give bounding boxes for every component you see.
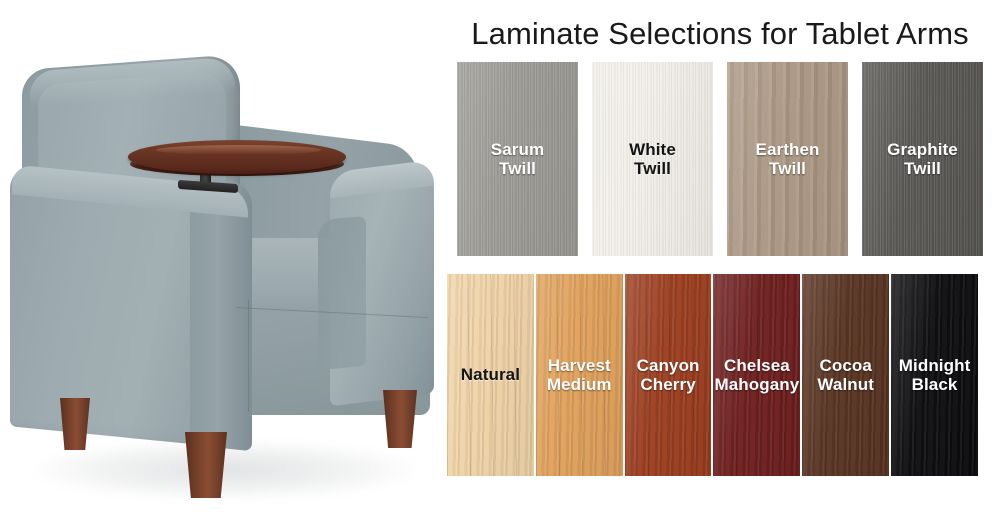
page-title: Laminate Selections for Tablet Arms	[450, 16, 990, 52]
laminate-swatch-label: Midnight Black	[899, 356, 971, 394]
chair-arm-right-inner	[318, 216, 366, 370]
laminate-swatch-label: Natural	[461, 365, 520, 384]
laminate-swatch[interactable]: Earthen Twill	[727, 62, 848, 256]
laminate-swatch[interactable]: White Twill	[592, 62, 713, 256]
laminate-swatch-label: Chelsea Mahogany	[714, 356, 799, 394]
product-photo-chair-with-tablet-arm	[0, 0, 445, 528]
chair-seam-seat-vertical	[248, 300, 249, 412]
chair-arm-left-front-face	[190, 177, 252, 452]
laminate-swatch-label: Canyon Cherry	[637, 356, 700, 394]
laminate-swatch-label: Harvest Medium	[547, 356, 612, 394]
laminate-swatch-label: White Twill	[629, 140, 676, 178]
laminate-selection-board: Laminate Selections for Tablet Arms Saru…	[0, 0, 1000, 528]
laminate-swatch[interactable]: Natural	[447, 274, 534, 476]
chair-leg-back-right	[383, 390, 417, 448]
laminate-swatch-label: Cocoa Walnut	[817, 356, 874, 394]
laminate-swatch[interactable]: Chelsea Mahogany	[713, 274, 800, 476]
chair-leg-front-left	[60, 398, 90, 450]
laminate-row-woodgrain: NaturalHarvest MediumCanyon CherryChelse…	[447, 274, 978, 476]
laminate-swatch[interactable]: Cocoa Walnut	[802, 274, 889, 476]
laminate-swatch[interactable]: Graphite Twill	[862, 62, 983, 256]
laminate-swatch-label: Graphite Twill	[887, 140, 958, 178]
laminate-swatch-label: Earthen Twill	[756, 140, 820, 178]
chair-leg-front-right	[185, 432, 227, 498]
laminate-swatch[interactable]: Sarum Twill	[457, 62, 578, 256]
laminate-row-twill: Sarum TwillWhite TwillEarthen TwillGraph…	[457, 62, 983, 256]
laminate-swatch[interactable]: Midnight Black	[891, 274, 978, 476]
laminate-swatch[interactable]: Harvest Medium	[536, 274, 623, 476]
tablet-arm-highlight	[156, 145, 321, 155]
laminate-swatch-label: Sarum Twill	[491, 140, 544, 178]
laminate-swatch[interactable]: Canyon Cherry	[625, 274, 712, 476]
